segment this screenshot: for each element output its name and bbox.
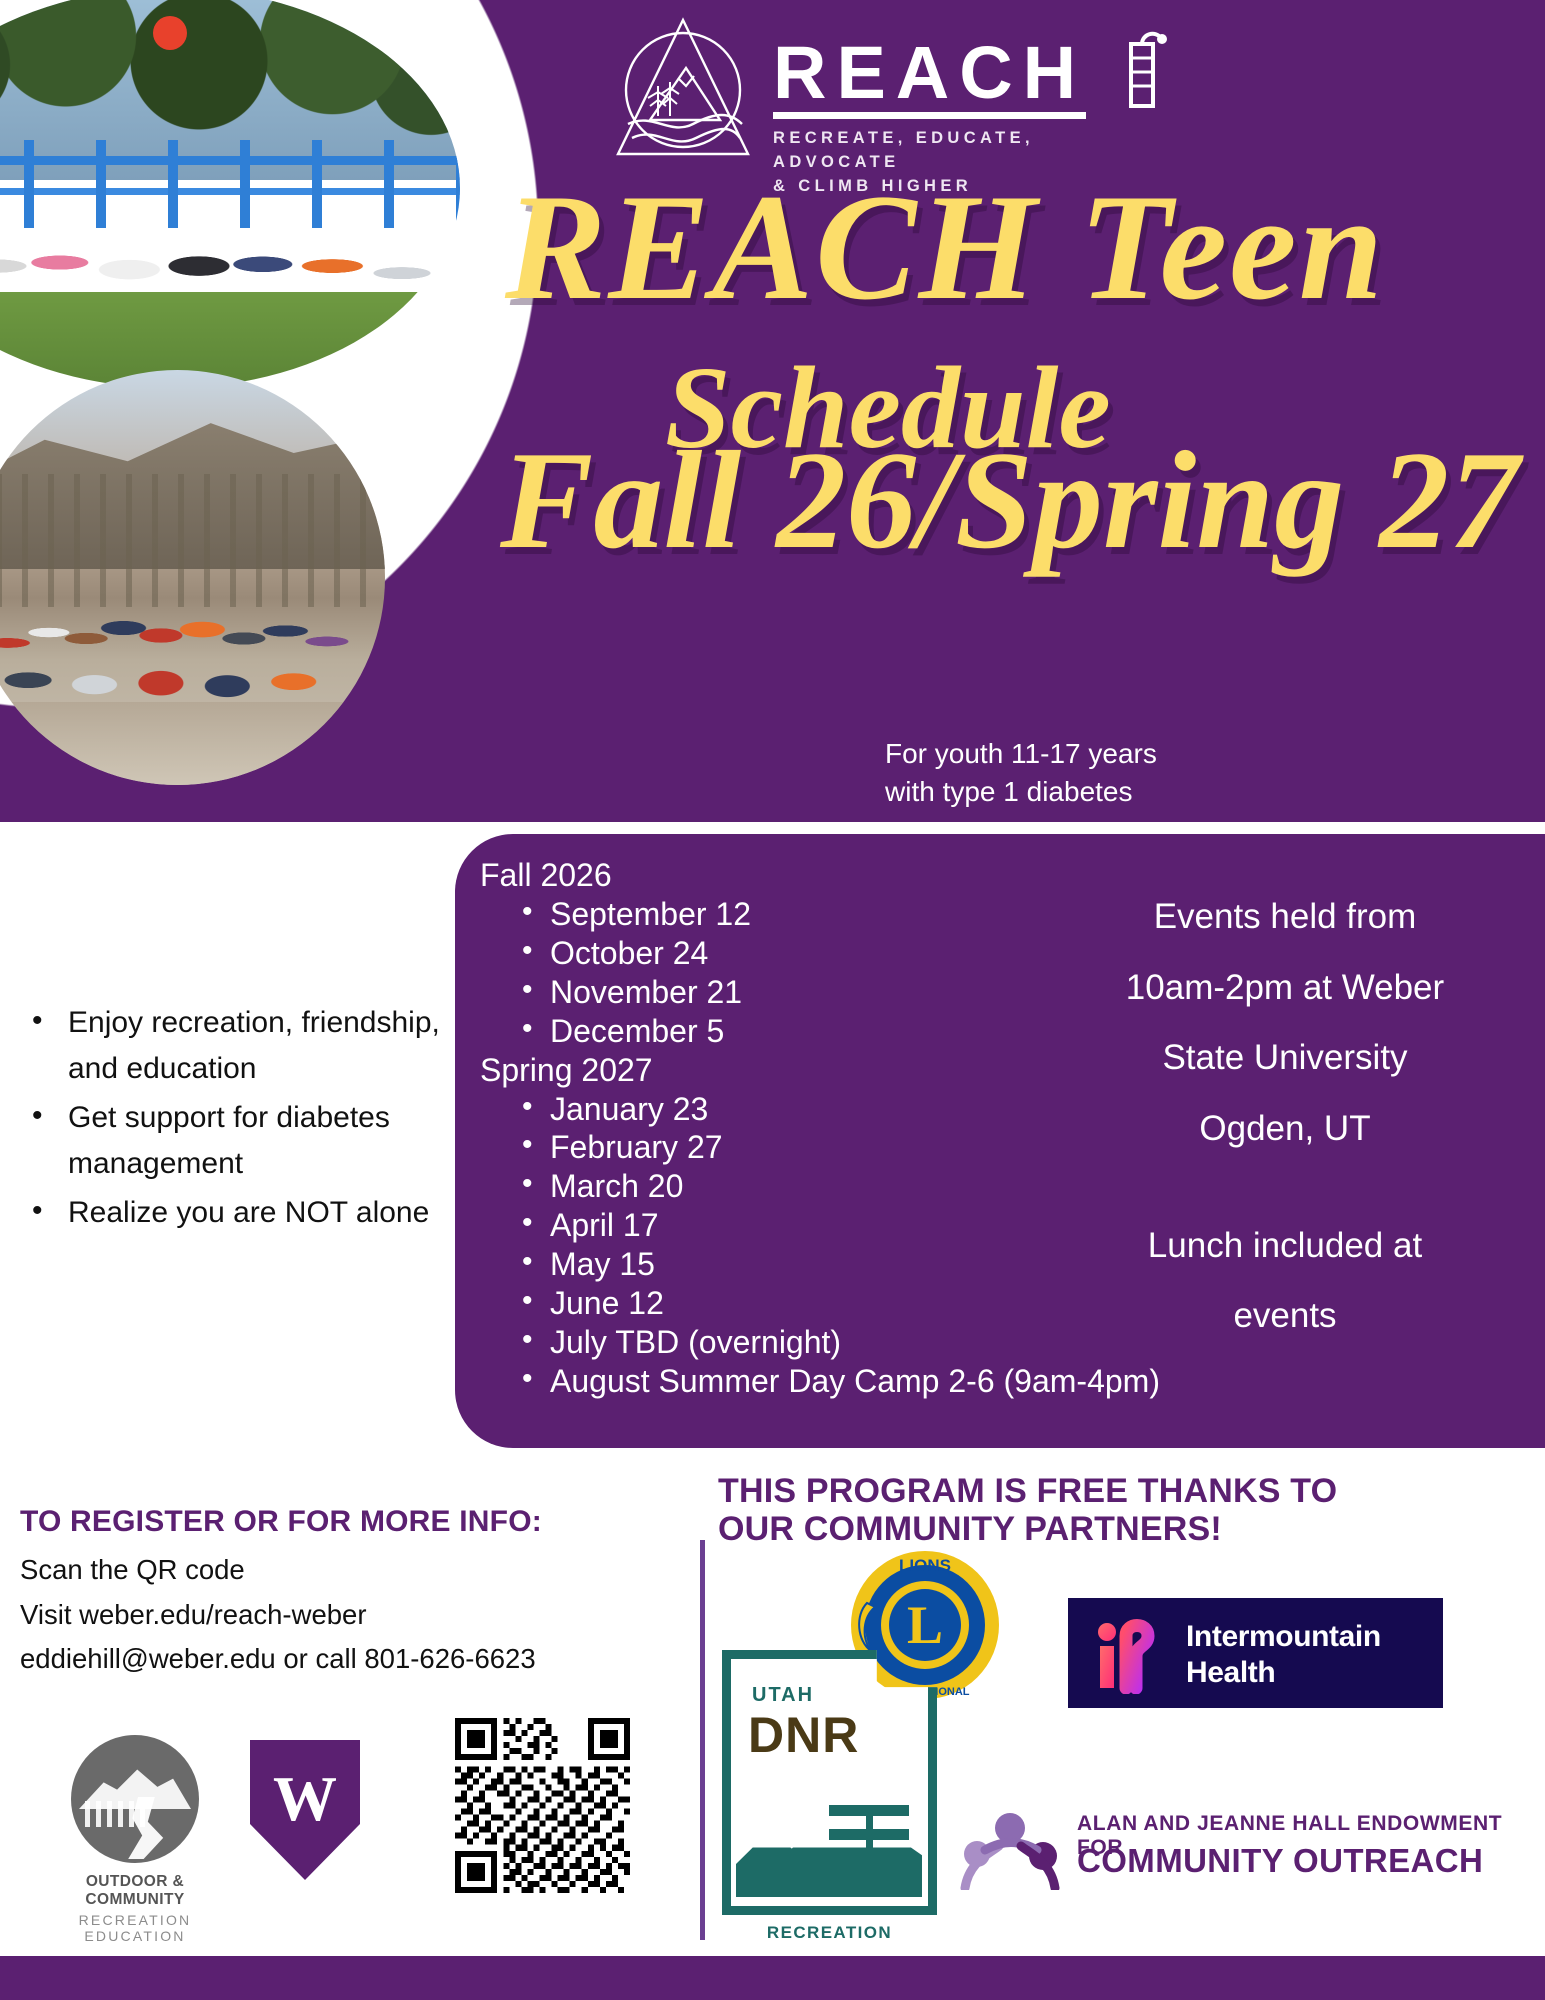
intermountain-ih-icon: [1092, 1614, 1170, 1694]
photo2-group: [0, 561, 385, 710]
subtitle-line-2: with type 1 diabetes: [885, 773, 1157, 811]
ocre-logo: OUTDOOR & COMMUNITY RECREATION EDUCATION: [45, 1735, 225, 1944]
intermountain-line-1: Intermountain: [1186, 1620, 1381, 1654]
spacer: [1055, 1165, 1515, 1211]
photo2-ground: [0, 702, 385, 785]
hall-line-2: COMMUNITY OUTREACH: [1077, 1842, 1483, 1880]
flyer-page: REACH RECREATE, EDUCATE, ADVOCATE & CLIM…: [0, 0, 1545, 2000]
event-info-line-3: State University: [1055, 1023, 1515, 1094]
list-item: May 15: [522, 1245, 1000, 1284]
list-item: December 5: [522, 1012, 1000, 1051]
title-line-3: Fall 26/Spring 27: [500, 420, 1519, 581]
photo-group-outdoors: [0, 370, 385, 785]
list-item: March 20: [522, 1167, 1000, 1206]
subtitle-block: For youth 11-17 years with type 1 diabet…: [885, 735, 1157, 811]
hall-endowment-logo: ALAN AND JEANNE HALL ENDOWMENT FOR COMMU…: [955, 1800, 1515, 1896]
register-line-1: Scan the QR code: [20, 1548, 536, 1593]
spring-heading: Spring 2027: [480, 1051, 1000, 1090]
benefits-list: Enjoy recreation, friendship, and educat…: [20, 1000, 440, 1240]
list-item: February 27: [522, 1128, 1000, 1167]
list-item: Enjoy recreation, friendship, and educat…: [30, 1000, 440, 1091]
fall-dates-list: September 12 October 24 November 21 Dece…: [480, 895, 1000, 1051]
list-item: September 12: [522, 895, 1000, 934]
mountain-triangle-icon: [608, 12, 758, 162]
utah-dnr-icon: UTAH DNR RECREATION: [722, 1650, 937, 1915]
register-line-3[interactable]: eddiehill@weber.edu or call 801-626-6623: [20, 1637, 536, 1682]
list-item: April 17: [522, 1206, 1000, 1245]
lions-text: LIONS: [899, 1556, 951, 1575]
reach-logo: REACH RECREATE, EDUCATE, ADVOCATE & CLIM…: [608, 10, 1168, 170]
title-line-1: REACH Teen: [505, 160, 1385, 334]
partners-heading-line-2: OUR COMMUNITY PARTNERS!: [718, 1510, 1528, 1548]
event-info-line-4: Ogden, UT: [1055, 1094, 1515, 1165]
qr-code-icon[interactable]: [455, 1718, 630, 1893]
intermountain-line-2: Health: [1186, 1656, 1275, 1690]
fall-heading: Fall 2026: [480, 856, 1000, 895]
register-heading: TO REGISTER OR FOR MORE INFO:: [20, 1505, 542, 1539]
schedule-list: Fall 2026 September 12 October 24 Novemb…: [480, 856, 1000, 1401]
list-item: Get support for diabetes management: [30, 1095, 440, 1186]
list-item: July TBD (overnight): [522, 1323, 1000, 1362]
partners-heading-line-1: THIS PROGRAM IS FREE THANKS TO: [718, 1472, 1528, 1510]
qr-code-svg: [455, 1718, 630, 1893]
weber-letter: W: [250, 1762, 360, 1836]
partners-heading: THIS PROGRAM IS FREE THANKS TO OUR COMMU…: [718, 1472, 1528, 1548]
spring-dates-list: January 23 February 27 March 20 April 17…: [480, 1090, 1000, 1401]
three-people-icon: [955, 1806, 1065, 1890]
list-item: January 23: [522, 1090, 1000, 1129]
register-line-2[interactable]: Visit weber.edu/reach-weber: [20, 1593, 536, 1638]
lions-letter: L: [907, 1595, 943, 1655]
list-item: November 21: [522, 973, 1000, 1012]
event-info-line-1: Events held from: [1055, 882, 1515, 953]
list-item: June 12: [522, 1284, 1000, 1323]
intermountain-health-logo: Intermountain Health: [1068, 1598, 1443, 1708]
logo-wordmark: REACH: [773, 38, 1086, 119]
footer-bar: [0, 1956, 1545, 2000]
dnr-sign-boards: [829, 1805, 909, 1869]
event-info-block: Events held from 10am-2pm at Weber State…: [1055, 882, 1515, 1352]
dnr-sub-label: RECREATION: [722, 1923, 937, 1943]
ice-axe-icon: [1111, 28, 1169, 120]
list-item: October 24: [522, 934, 1000, 973]
weber-w-shield-icon: W: [250, 1740, 360, 1880]
register-details: Scan the QR code Visit weber.edu/reach-w…: [20, 1548, 536, 1682]
dnr-wordmark: DNR: [748, 1706, 859, 1764]
event-info-line-5: Lunch included at: [1055, 1211, 1515, 1282]
subtitle-line-1: For youth 11-17 years: [885, 735, 1157, 773]
dnr-state-label: UTAH: [752, 1684, 814, 1707]
schedule-panel: Fall 2026 September 12 October 24 Novemb…: [455, 834, 1545, 1448]
photo1-people: [0, 164, 460, 340]
photo1-ball: [153, 16, 187, 50]
photo-teens-monkey-bars: [0, 0, 460, 388]
event-info-line-6: events: [1055, 1281, 1515, 1352]
event-info-line-2: 10am-2pm at Weber: [1055, 953, 1515, 1024]
vertical-divider: [700, 1540, 705, 1940]
list-item: Realize you are NOT alone: [30, 1190, 440, 1236]
list-item: August Summer Day Camp 2-6 (9am-4pm): [522, 1362, 1000, 1401]
mountain-city-circle-icon: [71, 1735, 199, 1863]
ocre-line-1: OUTDOOR & COMMUNITY: [45, 1873, 225, 1909]
ocre-line-2: RECREATION EDUCATION: [45, 1912, 225, 1944]
